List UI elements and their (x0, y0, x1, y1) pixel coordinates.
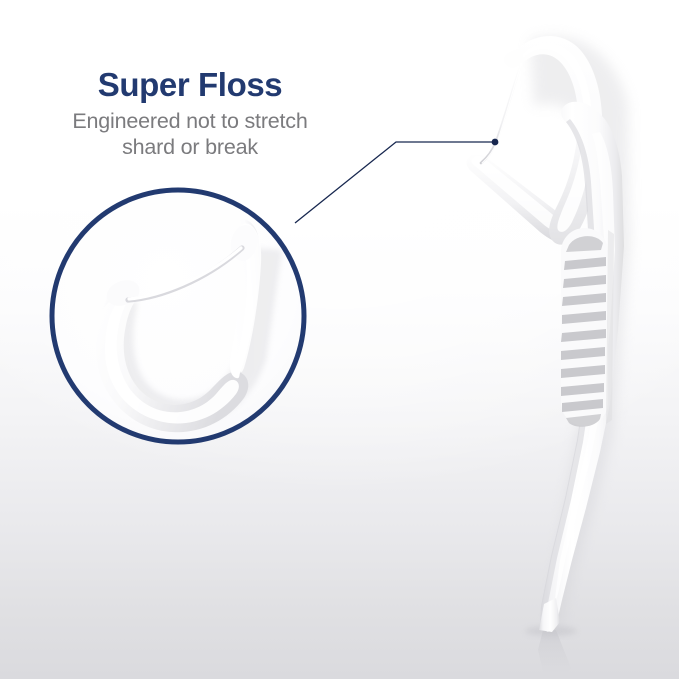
lower-prong-highlight (471, 156, 561, 231)
leader-line (295, 139, 498, 223)
floss-pick (467, 36, 630, 679)
leader-anchor-dot (492, 139, 499, 146)
magnifier-callout (52, 190, 304, 442)
product-illustration (0, 0, 679, 679)
product-infographic: Super Floss Engineered not to stretch sh… (0, 0, 679, 679)
leader-path (295, 142, 494, 223)
pick-reflection (538, 630, 571, 679)
textured-grip (561, 228, 608, 427)
floss-strand (481, 64, 521, 163)
